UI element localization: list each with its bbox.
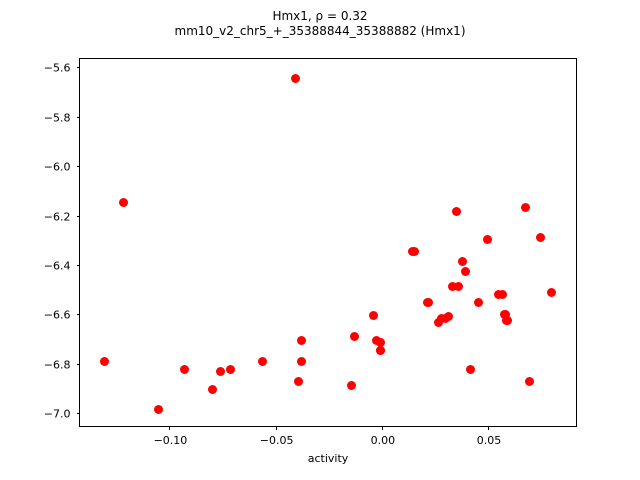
scatter-point	[454, 282, 463, 291]
x-axis-tick-label: 0.05	[477, 434, 502, 447]
scatter-point	[294, 377, 303, 386]
scatter-point	[100, 357, 109, 366]
x-axis-tick-label: −0.10	[154, 434, 188, 447]
scatter-point	[180, 365, 189, 374]
scatter-point	[521, 203, 530, 212]
y-axis-tick: −5.8	[77, 117, 81, 118]
scatter-point	[208, 385, 217, 394]
scatter-point	[154, 405, 163, 414]
scatter-point	[502, 316, 511, 325]
scatter-point	[369, 311, 378, 320]
y-axis-tick: −6.2	[77, 216, 81, 217]
x-axis-tick: −0.05	[276, 426, 277, 430]
y-axis-tick-label: −6.6	[44, 309, 71, 322]
y-axis-tick: −6.0	[77, 166, 81, 167]
scatter-point	[461, 267, 470, 276]
plot-axes: −5.6−5.8−6.0−6.2−6.4−6.6−6.8−7.0−0.10−0.…	[79, 58, 577, 427]
x-axis-tick: 0.00	[382, 426, 383, 430]
y-axis-tick: −6.6	[77, 314, 81, 315]
x-axis-tick: 0.05	[488, 426, 489, 430]
scatter-point	[547, 288, 556, 297]
scatter-point	[452, 207, 461, 216]
y-axis-tick: −5.6	[77, 67, 81, 68]
scatter-point	[119, 198, 128, 207]
scatter-point	[466, 365, 475, 374]
y-axis-tick: −6.8	[77, 364, 81, 365]
x-axis-tick-label: 0.00	[371, 434, 396, 447]
y-axis-tick-label: −5.6	[44, 62, 71, 75]
y-axis-tick: −6.4	[77, 265, 81, 266]
y-axis-tick-label: −6.2	[44, 210, 71, 223]
title-line-2: mm10_v2_chr5_+_35388844_35388882 (Hmx1)	[0, 24, 640, 39]
figure-title: Hmx1, ρ = 0.32 mm10_v2_chr5_+_35388844_3…	[0, 9, 640, 38]
scatter-point	[216, 367, 225, 376]
scatter-point	[347, 381, 356, 390]
scatter-point	[458, 257, 467, 266]
y-axis-tick-label: −5.8	[44, 111, 71, 124]
x-axis-tick-label: −0.05	[260, 434, 294, 447]
scatter-point	[297, 336, 306, 345]
title-line-1: Hmx1, ρ = 0.32	[0, 9, 640, 24]
scatter-point	[376, 346, 385, 355]
scatter-point	[258, 357, 267, 366]
figure-canvas: Hmx1, ρ = 0.32 mm10_v2_chr5_+_35388844_3…	[0, 0, 640, 480]
scatter-point	[410, 247, 419, 256]
scatter-point	[350, 332, 359, 341]
scatter-point	[297, 357, 306, 366]
scatter-point	[483, 235, 492, 244]
scatter-plot-area	[80, 59, 576, 426]
x-axis-label: activity	[79, 452, 577, 465]
scatter-point	[441, 314, 450, 323]
y-axis-tick: −7.0	[77, 413, 81, 414]
scatter-point	[226, 365, 235, 374]
y-axis-tick-label: −6.8	[44, 358, 71, 371]
x-axis-tick: −0.10	[169, 426, 170, 430]
scatter-point	[525, 377, 534, 386]
y-axis-tick-label: −6.4	[44, 259, 71, 272]
y-axis-tick-label: −6.0	[44, 161, 71, 174]
y-axis-tick-label: −7.0	[44, 407, 71, 420]
scatter-point	[474, 298, 483, 307]
scatter-point	[291, 74, 300, 83]
scatter-point	[536, 233, 545, 242]
